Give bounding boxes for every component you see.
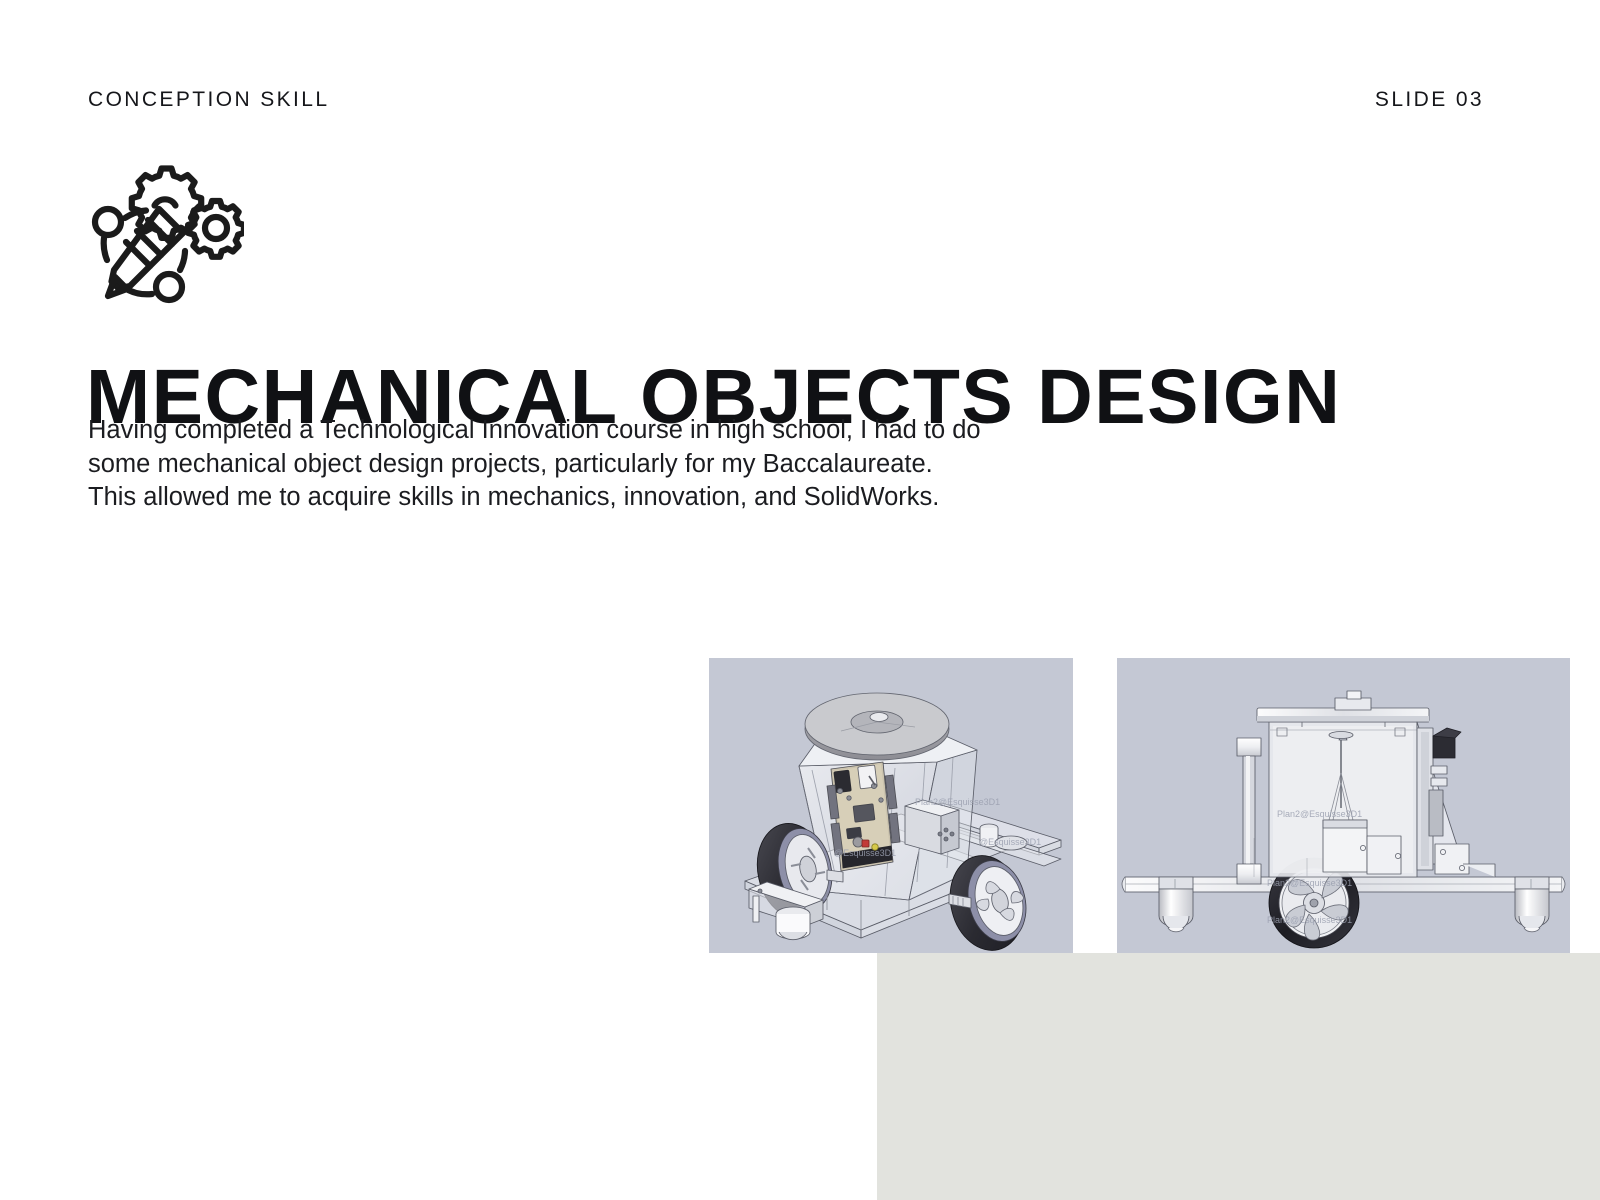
accent-background-block <box>877 953 1600 1200</box>
pencil-gears-icon <box>84 152 244 307</box>
section-label: CONCEPTION SKILL <box>88 88 329 112</box>
slide-header: CONCEPTION SKILL SLIDE 03 <box>88 88 1484 112</box>
main-body-panel <box>1269 722 1417 877</box>
left-support-post <box>1237 738 1261 884</box>
robot-chassis-side-view-render: Plan2@Esquisse3D1 Plan2@Esquisse3D1 Plan… <box>1117 658 1570 953</box>
body-line-2: some mechanical object design projects, … <box>88 448 1048 482</box>
watermark-text: Plan2@Esquisse3D1 <box>915 797 1000 807</box>
watermark-text: @Esquisse3D1 <box>834 848 896 858</box>
watermark-text: Plan2@Esquisse3D1 <box>1277 809 1362 819</box>
watermark-text: Plan2@Esquisse3D1 <box>1267 915 1352 925</box>
gear-small-icon <box>188 201 244 257</box>
watermark-text: Plan2@Esquisse3D1 <box>1267 878 1352 888</box>
body-line-3: This allowed me to acquire skills in mec… <box>88 481 1048 515</box>
body-paragraph: Having completed a Technological Innovat… <box>88 414 1048 515</box>
slide-root: CONCEPTION SKILL SLIDE 03 <box>0 0 1600 1200</box>
caster-right <box>1515 877 1549 932</box>
orbit-node-icon <box>95 209 121 235</box>
electronics-bracket <box>1417 722 1495 877</box>
slide-number: SLIDE 03 <box>1375 88 1484 112</box>
battery-box <box>905 800 959 854</box>
body-line-1: Having completed a Technological Innovat… <box>88 414 1048 448</box>
robot-chassis-isometric-render: Plan2@Esquisse3D1 @Esquisse3D1 @Esquisse… <box>709 658 1073 953</box>
top-lid-plate <box>1257 691 1429 727</box>
orbit-node-icon <box>156 274 182 300</box>
caster-left <box>1159 877 1193 932</box>
top-lid-plate <box>799 693 977 766</box>
watermark-text: @Esquisse3D1 <box>979 837 1041 847</box>
